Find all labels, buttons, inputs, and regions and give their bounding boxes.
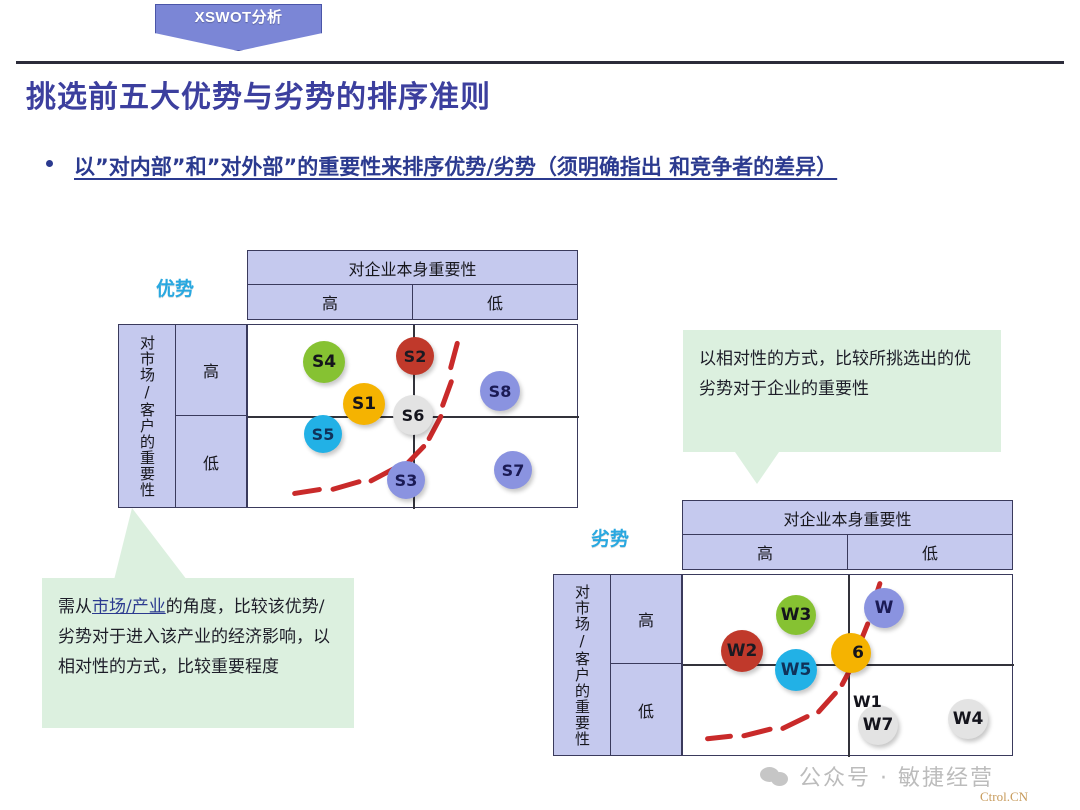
strength-row-low: 低 (175, 415, 247, 508)
header-divider (16, 61, 1064, 64)
annotation-w1: W1 (853, 692, 882, 711)
weakness-plot-area: W3 W W2 6 W5 W7 W4 W1 (682, 574, 1013, 756)
weakness-row-high: 高 (610, 574, 682, 664)
bubble-w4: W4 (948, 699, 988, 739)
bubble-w5: W5 (775, 649, 817, 691)
weakness-boundary-dash (741, 726, 773, 739)
weakness-matrix: 劣势 对企业本身重要性 高 低 对市场/客户的重要性 高 低 W3 W W2 6… (553, 498, 1013, 756)
weakness-row-axis-label: 对市场/客户的重要性 (553, 574, 611, 756)
weakness-boundary-dash (705, 734, 733, 742)
weakness-col-low: 低 (847, 534, 1013, 570)
bubble-s7: S7 (494, 451, 532, 489)
callout-right-text: 以相对性的方式，比较所挑选出的优劣势对于企业的重要性 (699, 349, 971, 399)
strength-col-low: 低 (412, 284, 578, 320)
strength-col-header: 对企业本身重要性 (247, 250, 578, 285)
bubble-w: W (864, 588, 904, 628)
callout-left: 需从市场/产业的角度，比较该优势/劣势对于进入该产业的经济影响，以相对性的方式，… (42, 578, 354, 728)
xswot-badge-label: XSWOT分析 (195, 5, 283, 31)
bubble-s2: S2 (396, 337, 434, 375)
bubble-w3: W3 (776, 595, 816, 635)
strength-col-high: 高 (247, 284, 413, 320)
weakness-col-high: 高 (682, 534, 848, 570)
strength-boundary-dash (448, 340, 461, 370)
bubble-s1: S1 (343, 383, 385, 425)
strength-row-axis-label: 对市场/客户的重要性 (118, 324, 176, 508)
bubble-s3: S3 (387, 461, 425, 499)
weakness-boundary-dash (780, 713, 811, 732)
bullet-dot-icon (46, 160, 53, 167)
strength-row-high: 高 (175, 324, 247, 416)
strength-boundary-dash (292, 487, 322, 497)
bubble-s6: S6 (393, 395, 433, 435)
callout-left-prefix: 需从 (58, 597, 92, 617)
bubble-w7: W7 (858, 705, 898, 745)
strength-boundary-dash (330, 479, 362, 493)
wechat-icon (760, 765, 790, 787)
weakness-boundary-dash (815, 690, 839, 716)
callout-right-tail-icon (735, 452, 779, 484)
credit-text: Ctrol.CN (980, 789, 1028, 805)
bubble-w2: W2 (721, 630, 763, 672)
bubble-s8: S8 (480, 371, 520, 411)
strength-plot-area: S4 S2 S8 S1 S6 S5 S3 S7 (247, 324, 578, 508)
callout-left-tail-icon (114, 508, 187, 580)
weakness-col-header: 对企业本身重要性 (682, 500, 1013, 535)
bubble-s4: S4 (303, 341, 345, 383)
xswot-badge: XSWOT分析 (155, 4, 322, 51)
callout-left-underlined: 市场/产业 (92, 597, 166, 617)
callout-right: 以相对性的方式，比较所挑选出的优劣势对于企业的重要性 (683, 330, 1001, 452)
watermark: 公众号 · 敏捷经营 (760, 760, 994, 792)
strength-matrix-title: 优势 (156, 274, 194, 301)
page-title: 挑选前五大优势与劣势的排序准则 (26, 72, 491, 116)
strength-boundary-dash (440, 379, 455, 409)
watermark-text: 公众号 · 敏捷经营 (799, 760, 994, 792)
strength-matrix: 优势 对企业本身重要性 高 低 对市场/客户的重要性 高 低 S4 S2 S8 … (118, 250, 578, 508)
weakness-row-low: 低 (610, 663, 682, 756)
bubble-w6: 6 (831, 633, 871, 673)
bubble-s5: S5 (304, 415, 342, 453)
weakness-matrix-title: 劣势 (591, 524, 629, 551)
bullet-text: 以”对内部”和”对外部”的重要性来排序优势/劣势（须明确指出 和竞争者的差异） (74, 150, 994, 184)
